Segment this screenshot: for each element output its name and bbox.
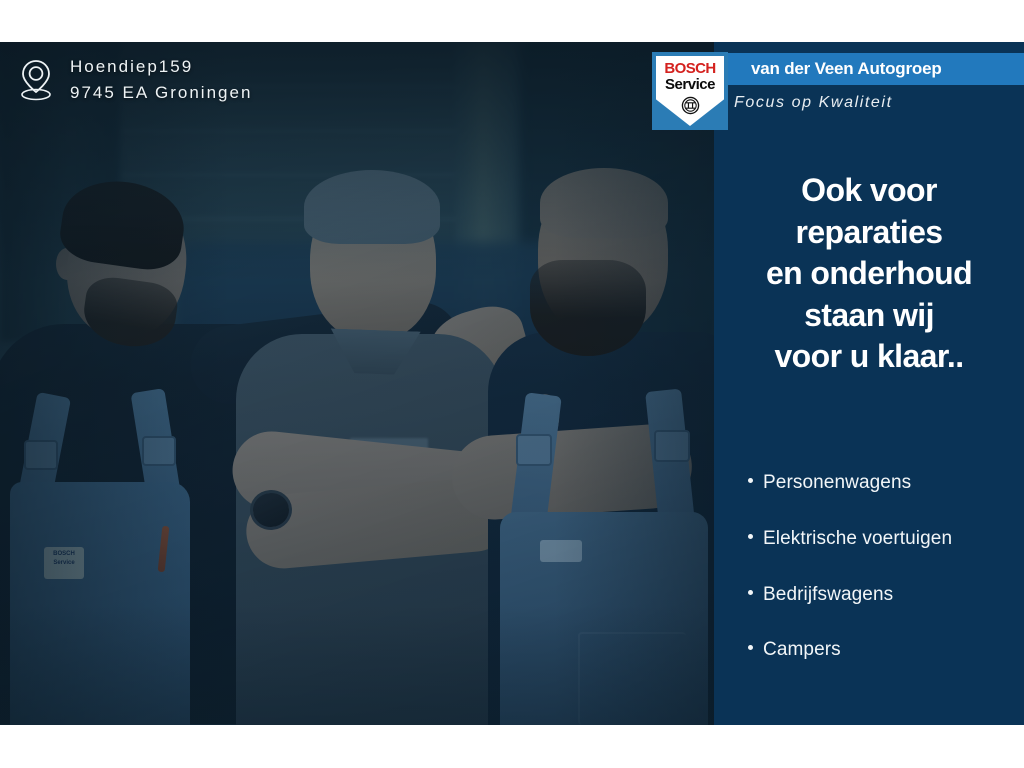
bosch-shield: BOSCH Service xyxy=(656,56,724,126)
brand-name: van der Veen Autogroep xyxy=(751,54,1024,84)
bosch-service-word: Service xyxy=(665,77,715,94)
location-pin-icon xyxy=(18,58,54,102)
bullet-dot-icon xyxy=(748,590,753,595)
address-block: Hoendiep159 9745 EA Groningen xyxy=(18,54,252,107)
headline: Ook voor reparaties en onderhoud staan w… xyxy=(722,170,1016,378)
headline-line-5: voor u klaar.. xyxy=(722,336,1016,378)
brand-tagline: Focus op Kwaliteit xyxy=(734,94,1024,112)
bullet-dot-icon xyxy=(748,645,753,650)
headline-line-1: Ook voor xyxy=(722,170,1016,212)
photo-vignette-bottom xyxy=(0,605,714,725)
list-item: Personenwagens xyxy=(748,472,1024,495)
address-text: Hoendiep159 9745 EA Groningen xyxy=(70,54,252,107)
service-label: Bedrijfswagens xyxy=(763,584,893,607)
bullet-dot-icon xyxy=(748,478,753,483)
headline-line-4: staan wij xyxy=(722,295,1016,337)
bullet-dot-icon xyxy=(748,534,753,539)
services-list: Personenwagens Elektrische voertuigen Be… xyxy=(748,472,1024,695)
info-panel: BOSCH Service van der Veen Autogroep Foc… xyxy=(714,42,1024,725)
list-item: Bedrijfswagens xyxy=(748,584,1024,607)
list-item: Elektrische voertuigen xyxy=(748,528,1024,551)
mechanics-photo: BOSCH Service xyxy=(0,42,714,725)
headline-line-2: reparaties xyxy=(722,212,1016,254)
list-item: Campers xyxy=(748,639,1024,662)
bosch-armature-icon xyxy=(681,96,700,115)
address-line-2: 9745 EA Groningen xyxy=(70,80,252,106)
headline-line-3: en onderhoud xyxy=(722,253,1016,295)
service-label: Elektrische voertuigen xyxy=(763,528,952,551)
bosch-wordmark: BOSCH xyxy=(664,61,715,76)
advertisement-banner: BOSCH Service xyxy=(0,42,1024,725)
address-line-1: Hoendiep159 xyxy=(70,54,252,80)
bosch-service-logo: BOSCH Service xyxy=(652,52,728,130)
service-label: Personenwagens xyxy=(763,472,911,495)
service-label: Campers xyxy=(763,639,841,662)
